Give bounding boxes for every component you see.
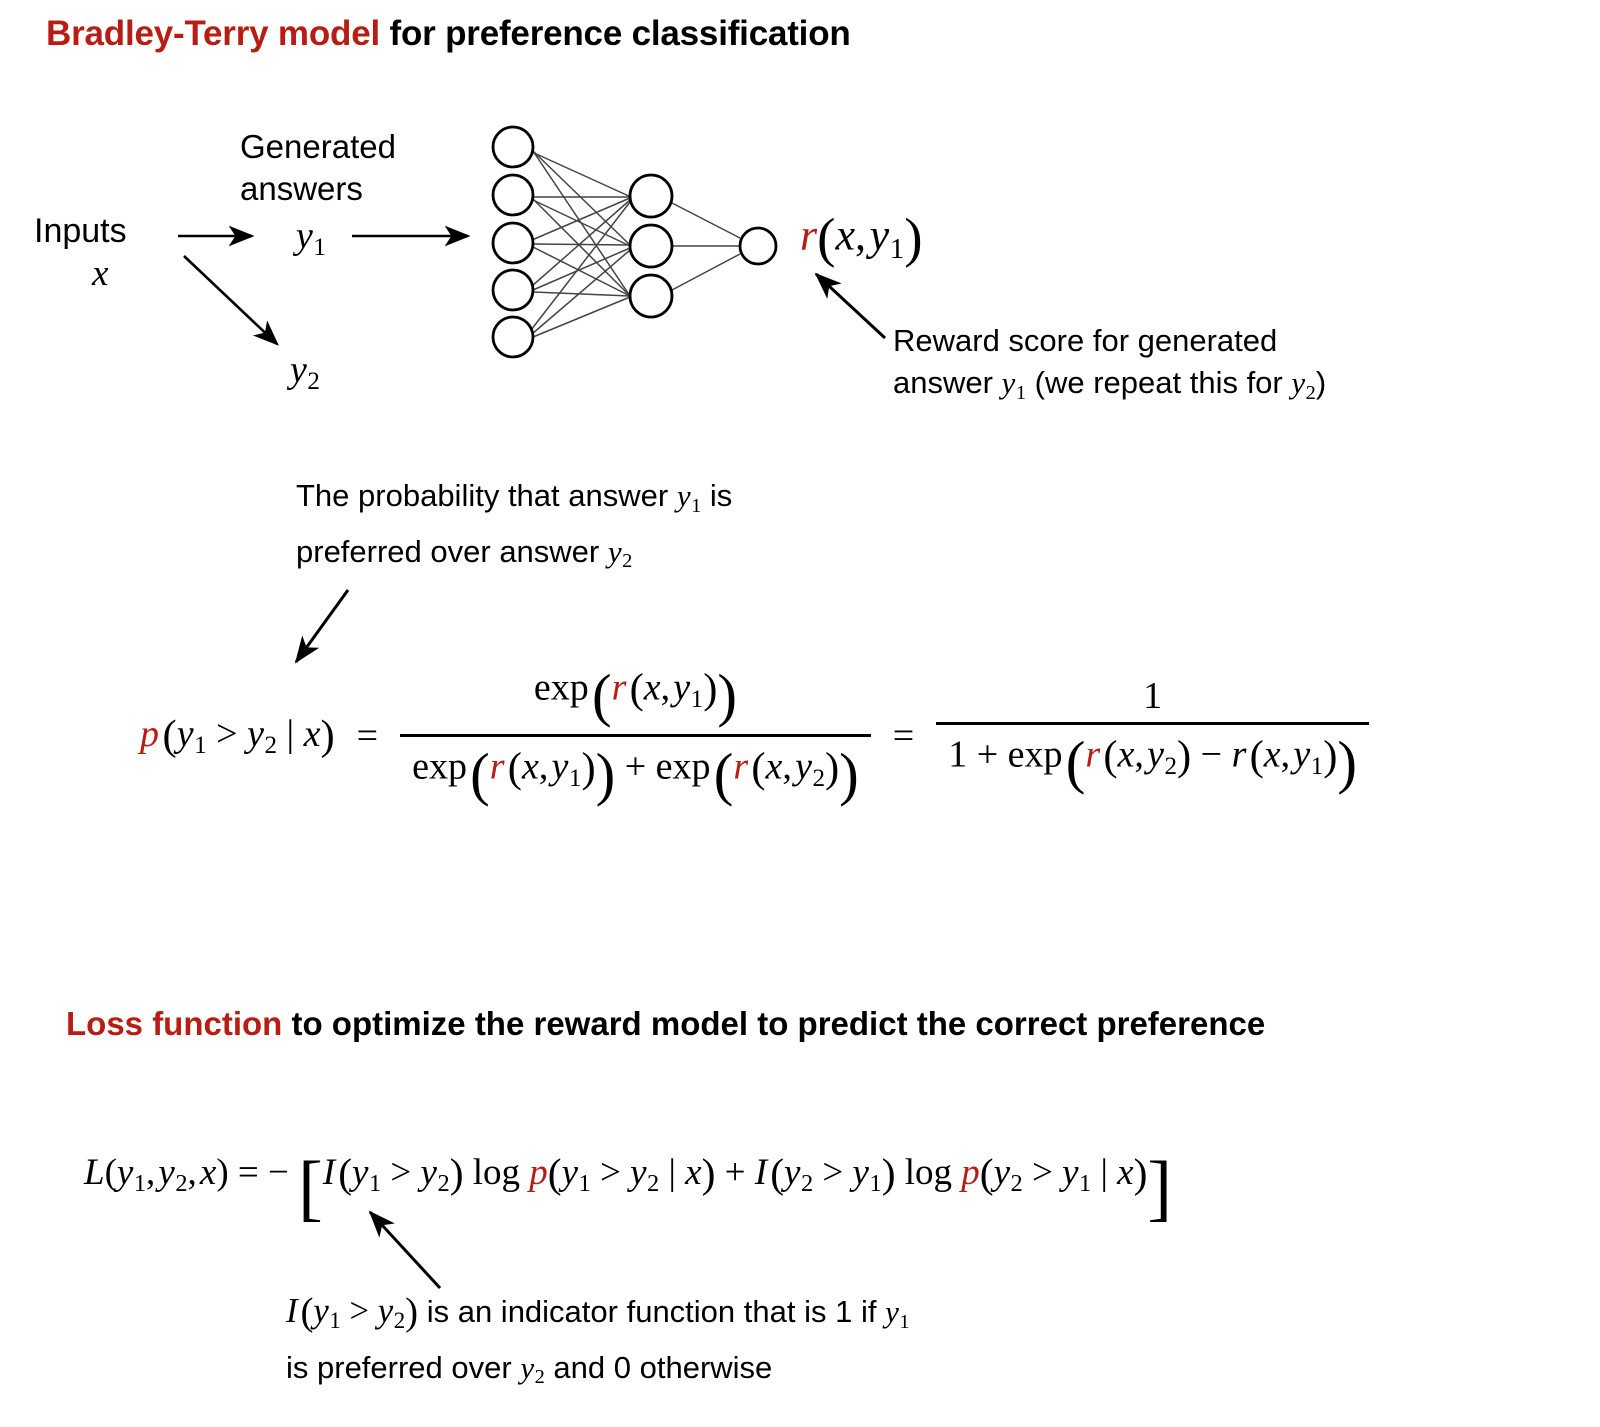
- hidden-node-2: [630, 225, 672, 267]
- equals-sign-1: =: [357, 714, 378, 758]
- input-node-4: [493, 270, 533, 310]
- input-node-3: [493, 223, 533, 263]
- fraction2-numerator: 1: [1131, 674, 1174, 722]
- inputs-variable: x: [92, 252, 108, 295]
- title-rest: for preference classification: [380, 14, 851, 53]
- title-highlight: Bradley-Terry model: [46, 14, 380, 53]
- inputs-label: Inputs: [34, 212, 127, 251]
- fraction-denominator: exp (r (x, y1)) + exp (r (x, y2)): [400, 737, 871, 809]
- loss-heading: Loss function to optimize the reward mod…: [66, 1002, 1266, 1045]
- reward-function-label: r(x, y1): [800, 206, 923, 269]
- loss-heading-highlight: Loss function: [66, 1005, 282, 1042]
- loss-heading-rest: to optimize the reward model to predict …: [282, 1005, 1265, 1042]
- answer-y2-label: y2: [290, 348, 320, 396]
- network-edges: [531, 148, 740, 337]
- fraction-numerator: exp (r (x, y1)): [522, 662, 749, 734]
- fraction2-denominator: 1 + exp (r (x, y2) − r (x, y1)): [936, 725, 1369, 797]
- hidden-node-1: [630, 175, 672, 217]
- probability-note: The probability that answer y1 ispreferr…: [296, 473, 732, 584]
- answer-y1-label: y1: [296, 214, 326, 262]
- probability-fraction-2: 1 1 + exp (r (x, y2) − r (x, y1)): [936, 674, 1369, 797]
- output-node-1: [740, 228, 776, 264]
- probability-fraction-1: exp (r (x, y1)) exp (r (x, y1)) + exp (r…: [400, 662, 871, 809]
- indicator-function-note: I (y1 > y2) is an indicator function tha…: [286, 1288, 910, 1400]
- reward-score-note: Reward score for generatedanswer y1 (we …: [893, 320, 1326, 414]
- page-title: Bradley-Terry model for preference class…: [46, 14, 851, 54]
- probability-equation: p (y1 > y2 | x) = exp (r (x, y1)) exp (r…: [140, 662, 1379, 809]
- loss-equation: L(y1, y2, x) = − [I (y1 > y2) log p(y1 >…: [84, 1146, 1172, 1231]
- generated-answers-label: Generated answers: [240, 126, 396, 210]
- probability-lhs: p (y1 > y2 | x): [140, 711, 335, 760]
- equals-sign-2: =: [893, 714, 914, 758]
- input-node-2: [493, 175, 533, 215]
- input-node-1: [493, 127, 533, 167]
- network-nodes: [493, 127, 776, 357]
- hidden-node-3: [630, 275, 672, 317]
- input-node-5: [493, 317, 533, 357]
